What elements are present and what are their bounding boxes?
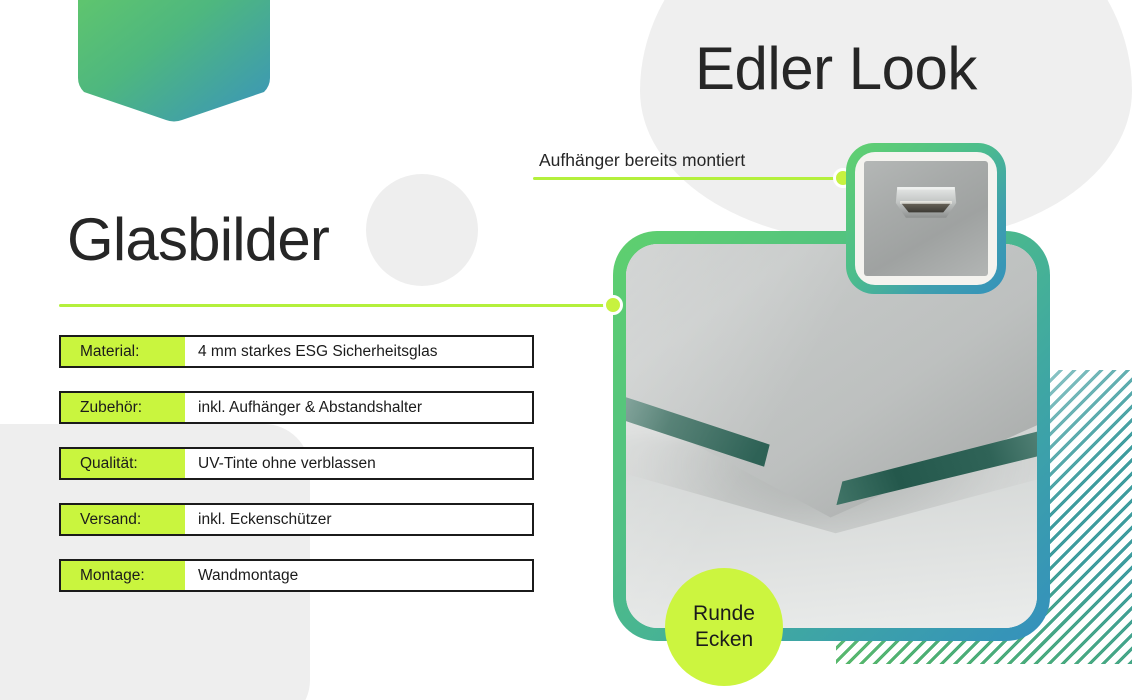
spec-label-zubehoer: Zubehör: [61, 393, 185, 422]
page-title-right: Edler Look [695, 34, 977, 103]
hanger-bracket-icon [890, 183, 962, 224]
title-connector-dot [603, 295, 623, 315]
wall-hanger-mount-photo [864, 161, 988, 276]
brand-shield-logo [78, 0, 270, 123]
title-underline-rule [59, 304, 615, 307]
runde-ecken-badge: Runde Ecken [665, 568, 783, 686]
spec-value-zubehoer: inkl. Aufhänger & Abstandshalter [185, 393, 532, 422]
badge-line-2: Ecken [695, 627, 753, 653]
hanger-connector-line [533, 177, 845, 180]
specification-table: Material: 4 mm starkes ESG Sicherheitsgl… [59, 335, 534, 615]
spec-label-material: Material: [61, 337, 185, 366]
spec-value-qualitaet: UV-Tinte ohne verblassen [185, 449, 532, 478]
hanger-annotation-label: Aufhänger bereits montiert [539, 150, 745, 171]
table-row: Material: 4 mm starkes ESG Sicherheitsgl… [59, 335, 534, 368]
table-row: Versand: inkl. Eckenschützer [59, 503, 534, 536]
table-row: Montage: Wandmontage [59, 559, 534, 592]
table-row: Zubehör: inkl. Aufhänger & Abstandshalte… [59, 391, 534, 424]
hanger-inset-matte [855, 152, 997, 285]
spec-value-montage: Wandmontage [185, 561, 532, 590]
spec-label-versand: Versand: [61, 505, 185, 534]
glass-panel-corner-photo [626, 244, 1037, 628]
spec-label-montage: Montage: [61, 561, 185, 590]
table-row: Qualität: UV-Tinte ohne verblassen [59, 447, 534, 480]
spec-value-versand: inkl. Eckenschützer [185, 505, 532, 534]
spec-label-qualitaet: Qualität: [61, 449, 185, 478]
page-title-left: Glasbilder [67, 205, 329, 274]
badge-line-1: Runde [693, 601, 755, 627]
spec-value-material: 4 mm starkes ESG Sicherheitsglas [185, 337, 532, 366]
hanger-inset-frame [846, 143, 1006, 294]
decor-circle-behind-title [366, 174, 478, 286]
